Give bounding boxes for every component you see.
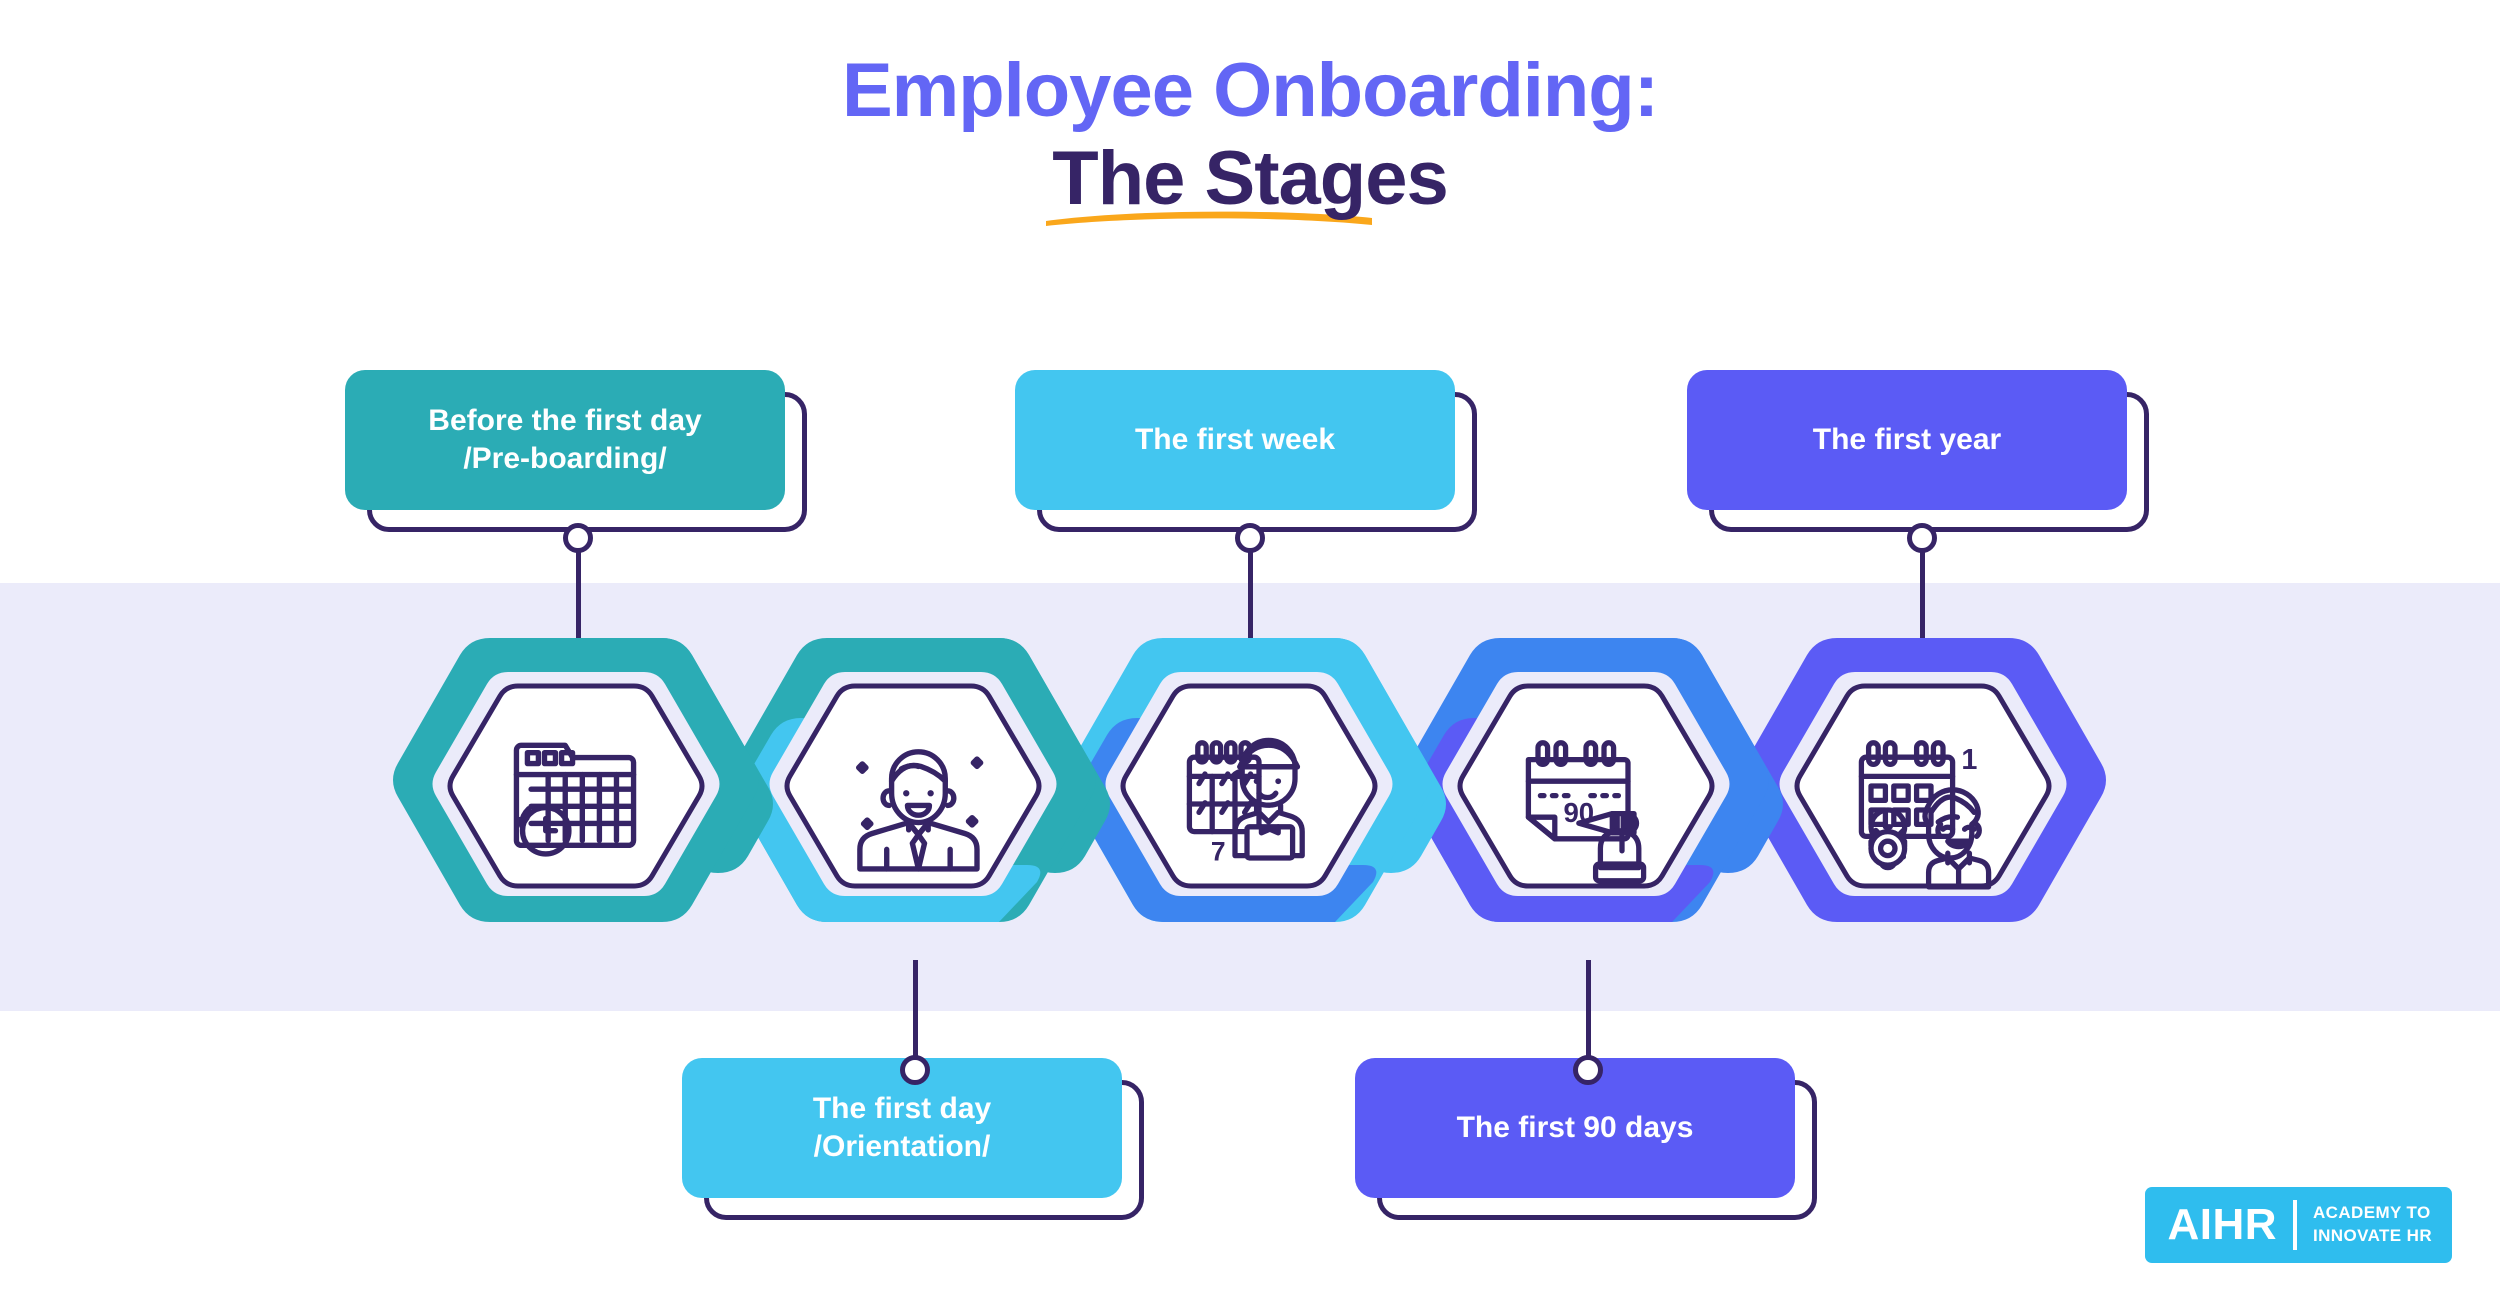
infographic-canvas: Employee Onboarding: The Stages Before t… — [0, 0, 2500, 1307]
page-title: Employee Onboarding: The Stages — [0, 50, 2500, 220]
hexagon-inner-pre-boarding — [450, 686, 702, 886]
stage-label-text-pre-boarding: Before the first day /Pre-boarding/ — [428, 402, 701, 479]
stage-label-first-week[interactable]: The first week — [1015, 370, 1475, 530]
logo-tagline: ACADEMY TO INNOVATE HR — [2313, 1202, 2432, 1248]
label-line-2: /Pre-boarding/ — [463, 442, 666, 475]
stage-label-text-first-day: The first day /Orientation/ — [813, 1090, 991, 1167]
label-line-1: The first day — [813, 1092, 991, 1125]
stage-label-text-first-week: The first week — [1135, 421, 1335, 459]
stage-label-text-first-90-days: The first 90 days — [1457, 1109, 1694, 1147]
aihr-logo[interactable]: AIHR ACADEMY TO INNOVATE HR — [2145, 1187, 2452, 1263]
icon-value-first-year: 1 — [1961, 744, 1977, 776]
label-line-1: Before the first day — [428, 404, 701, 437]
stage-label-text-first-year: The first year — [1813, 421, 2001, 459]
connector-dot-pre-boarding — [563, 523, 593, 553]
connector-line-first-90-days — [1586, 960, 1591, 1070]
stage-label-pre-boarding[interactable]: Before the first day /Pre-boarding/ — [345, 370, 805, 530]
connector-dot-first-90-days — [1573, 1055, 1603, 1085]
title-line-2-group: The Stages — [1052, 138, 1447, 220]
stage-label-fill-pre-boarding: Before the first day /Pre-boarding/ — [345, 370, 785, 510]
connector-dot-first-year — [1907, 523, 1937, 553]
connector-line-first-day — [913, 960, 918, 1070]
logo-tagline-line-2: INNOVATE HR — [2313, 1226, 2432, 1245]
icon-value-first-week: 7 — [1211, 836, 1226, 866]
logo-mark: AIHR — [2167, 1203, 2277, 1247]
connector-dot-first-week — [1235, 523, 1265, 553]
title-line-2: The Stages — [1052, 138, 1447, 220]
connector-dot-first-day — [900, 1055, 930, 1085]
stage-label-fill-first-week: The first week — [1015, 370, 1455, 510]
logo-divider — [2293, 1200, 2297, 1250]
stage-label-first-year[interactable]: The first year — [1687, 370, 2147, 530]
stage-hexagon-pre-boarding[interactable] — [390, 630, 790, 970]
hexagon-inner-first-90-days — [1460, 686, 1712, 886]
logo-tagline-line-1: ACADEMY TO — [2313, 1203, 2431, 1222]
stage-label-fill-first-year: The first year — [1687, 370, 2127, 510]
label-line-2: /Orientation/ — [814, 1130, 991, 1163]
title-line-1: Employee Onboarding: — [0, 50, 2500, 132]
